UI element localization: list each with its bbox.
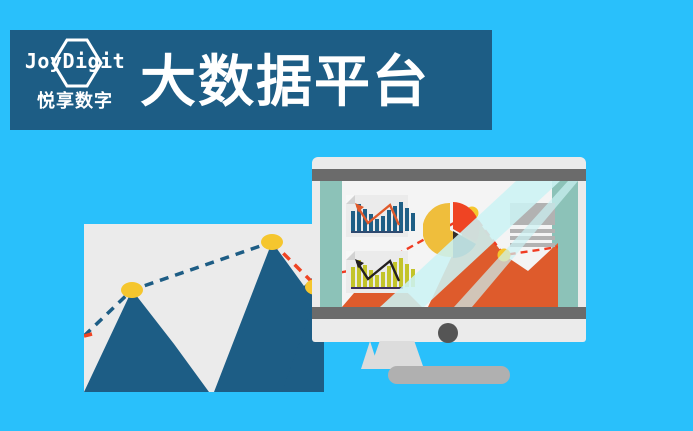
text-block-widget[interactable] [510, 203, 555, 247]
monitor-stand-base [388, 366, 510, 384]
bar [411, 269, 415, 287]
screen-left-band [320, 181, 342, 307]
left-panel-mountain-chart [84, 224, 324, 392]
blue-bar-card[interactable] [346, 195, 408, 237]
text-block-line [510, 243, 555, 247]
arrow-up-icon [355, 259, 364, 268]
header-banner: JoyDigit 悦享数字 大数据平台 [10, 30, 492, 130]
data-point-marker [261, 234, 283, 250]
monitor-power-indicator[interactable] [438, 323, 458, 343]
mountain-shape [84, 242, 324, 392]
text-block-line [510, 236, 555, 240]
trend-overlay [346, 195, 408, 237]
trend-line-stub [84, 334, 92, 336]
brand-wordmark: JoyDigit [22, 50, 128, 72]
left-mountain-panel [84, 224, 324, 392]
data-point-marker [121, 282, 143, 298]
poster-canvas: JoyDigit 悦享数字 大数据平台 [0, 0, 693, 431]
brand-subtitle: 悦享数字 [22, 90, 128, 112]
monitor-bottom-bar [312, 307, 586, 319]
brand-logo: JoyDigit 悦享数字 [22, 38, 128, 122]
text-block-header [510, 203, 555, 225]
monitor-screen [320, 181, 578, 307]
pie-chart[interactable] [423, 201, 481, 259]
text-block-line [510, 229, 555, 233]
page-title: 大数据平台 [140, 52, 430, 112]
data-point-marker [498, 249, 511, 262]
bar [411, 213, 415, 231]
arrow-up-icon [355, 203, 364, 212]
olive-bar-card[interactable] [346, 251, 408, 293]
monitor-illustration [312, 157, 586, 342]
monitor-top-bar [312, 169, 586, 181]
trend-overlay [346, 251, 408, 293]
